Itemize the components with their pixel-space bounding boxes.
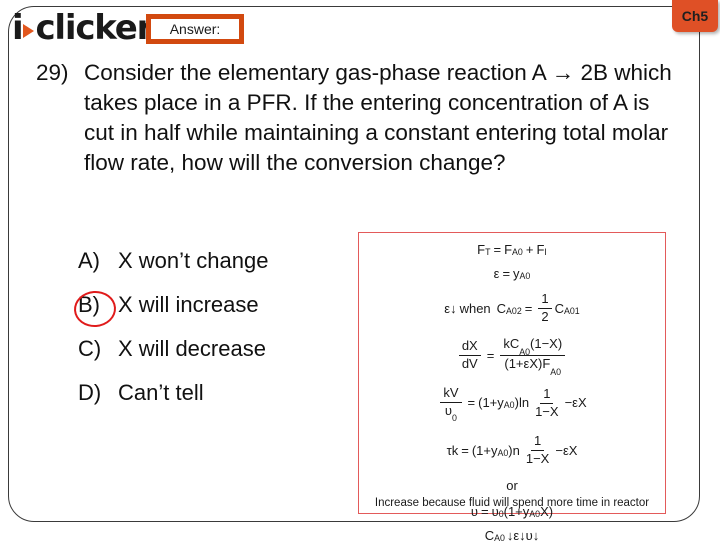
chapter-badge-label: Ch5 <box>682 8 708 24</box>
f5-fnum: 1 <box>540 387 553 404</box>
f6-right-fraction: 1 1−X <box>523 434 553 467</box>
formula-line-9: CA0 ↓ε↓υ↓ <box>485 529 540 543</box>
option-b-text: X will increase <box>118 292 378 318</box>
logo-text-pre: i <box>12 11 22 45</box>
f6-ln: n <box>513 444 520 458</box>
f2-y-sub: A0 <box>520 272 531 281</box>
f7-or: or <box>506 479 518 493</box>
f3-eq: = <box>525 302 533 316</box>
f9-arrows: ↓ε↓υ↓ <box>507 529 539 543</box>
f3-c2-sub: A01 <box>564 307 580 316</box>
f2-eq: = <box>502 267 510 281</box>
f1-plus: + <box>526 243 534 257</box>
f5-eq: = <box>468 396 476 410</box>
f9-c: C <box>485 529 494 543</box>
f5-right-fraction: 1 1−X <box>532 387 562 420</box>
formula-line-2: ε = yA0 <box>494 267 531 281</box>
option-d[interactable]: D) Can’t tell <box>78 380 378 424</box>
answer-box[interactable]: Answer: <box>146 14 244 44</box>
option-a-letter: A) <box>78 248 118 274</box>
question-number: 29) <box>36 58 69 88</box>
play-triangle-icon <box>23 24 34 38</box>
f6-tauk: τk <box>447 444 459 458</box>
f5-minus-ex: −εX <box>565 396 587 410</box>
f1-ft-sub: T <box>485 248 490 257</box>
f1-fi-sub: I <box>544 248 546 257</box>
f5-y-sub: A0 <box>504 401 515 410</box>
formula-stack: FT = FA0 + FI ε = yA0 ε↓ when CA02 = 1 2… <box>359 233 665 542</box>
f1-fi: F <box>536 243 544 257</box>
f5-fden: 1−X <box>532 404 562 420</box>
option-c[interactable]: C) X will decrease <box>78 336 378 380</box>
formula-line-4: dX dV = kCA0(1−X) (1+εX)FA0 <box>456 337 568 374</box>
formula-line-6: τk = (1+yA0) n 1 1−X −εX <box>447 434 578 467</box>
chapter-badge: Ch5 <box>672 0 718 32</box>
formula-line-7: or <box>506 479 518 493</box>
f5-paren-open: (1+y <box>478 396 504 410</box>
solution-caption: Increase because fluid will spend more t… <box>359 497 665 509</box>
f4-right-fraction: kCA0(1−X) (1+εX)FA0 <box>500 337 565 374</box>
f4-den: dV <box>459 356 481 372</box>
option-d-letter: D) <box>78 380 118 406</box>
f4-paren-1pex: (1+εX) <box>504 356 542 371</box>
option-c-text: X will decrease <box>118 336 378 362</box>
f1-fa0-sub: A0 <box>512 248 523 257</box>
f8-v0-sub: 0 <box>499 510 504 519</box>
f3-when: when <box>460 302 491 316</box>
f6-paren-open: (1+y <box>472 444 498 458</box>
f6-fden: 1−X <box>523 451 553 467</box>
f3-half-fraction: 1 2 <box>538 292 551 325</box>
f3-c-sub: A02 <box>506 307 522 316</box>
f5-left-fraction: kV υ0 <box>440 386 461 421</box>
f5-ln: ln <box>519 396 529 410</box>
f4-left-fraction: dX dV <box>459 339 481 372</box>
f4-f-sub: A0 <box>550 367 561 377</box>
f8-y-sub: A0 <box>529 510 540 519</box>
answer-options: A) X won’t change B) X will increase C) … <box>78 248 378 424</box>
answer-label: Answer: <box>170 21 221 37</box>
f6-minus-ex: −εX <box>555 444 577 458</box>
f4-k-sub: A0 <box>519 347 530 357</box>
f4-eq: = <box>487 349 495 363</box>
f1-eq: = <box>494 243 502 257</box>
f6-fnum: 1 <box>531 434 544 451</box>
f5-den-sub: 0 <box>452 413 457 423</box>
f1-ft: F <box>477 243 485 257</box>
option-b[interactable]: B) X will increase <box>78 292 378 336</box>
option-d-text: Can’t tell <box>118 380 378 406</box>
f5-den-v: υ <box>445 403 452 418</box>
f6-eq: = <box>461 444 469 458</box>
f4-right-num: kCA0(1−X) <box>500 337 565 356</box>
logo-text-post: clicker <box>35 11 152 45</box>
option-a-text: X won’t change <box>118 248 378 274</box>
f1-fa0: F <box>504 243 512 257</box>
formula-line-1: FT = FA0 + FI <box>477 243 547 257</box>
formula-solution-box: FT = FA0 + FI ε = yA0 ε↓ when CA02 = 1 2… <box>358 232 666 514</box>
f3-num: 1 <box>538 292 551 309</box>
f4-paren-1mx: (1−X) <box>530 336 562 351</box>
f4-num: dX <box>459 339 481 356</box>
option-a[interactable]: A) X won’t change <box>78 248 378 292</box>
option-c-letter: C) <box>78 336 118 362</box>
f3-eps-down: ε↓ <box>444 302 456 316</box>
question-block: 29) Consider the elementary gas-phase re… <box>36 58 676 178</box>
formula-line-5: kV υ0 = (1+yA0) ln 1 1−X −εX <box>437 386 586 421</box>
iclicker-logo: i clicker <box>12 10 152 46</box>
f5-den: υ0 <box>442 403 460 421</box>
f4-right-den: (1+εX)FA0 <box>501 356 564 374</box>
f3-c2: C <box>555 302 564 316</box>
f9-c-sub: A0 <box>494 534 505 543</box>
f5-num: kV <box>440 386 461 403</box>
formula-line-3: ε↓ when CA02 = 1 2 CA01 <box>444 292 579 325</box>
f3-den: 2 <box>538 309 551 325</box>
question-text: Consider the elementary gas-phase reacti… <box>84 58 676 178</box>
f4-k: kC <box>503 336 519 351</box>
f3-c: C <box>497 302 506 316</box>
f6-y-sub: A0 <box>497 449 508 458</box>
f2-eps: ε <box>494 267 500 281</box>
